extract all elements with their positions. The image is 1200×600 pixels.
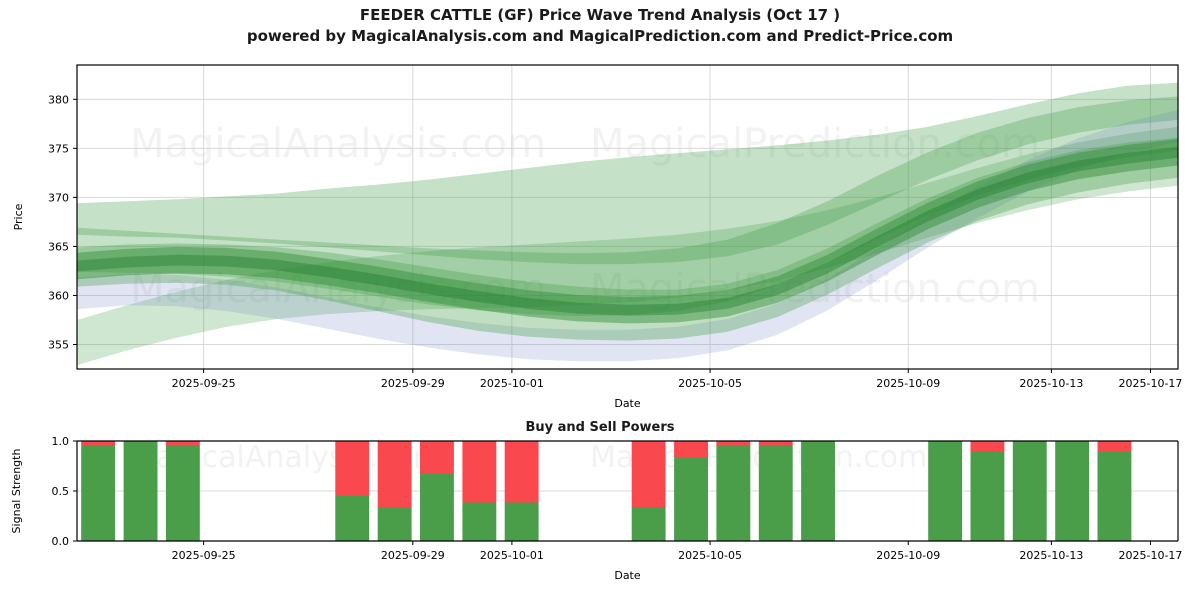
buy-power-segment[interactable] bbox=[632, 508, 666, 542]
buy-power-segment[interactable] bbox=[81, 445, 115, 541]
stacked-bar[interactable] bbox=[759, 441, 793, 541]
x-tick-label: 2025-09-25 bbox=[172, 549, 236, 562]
buy-power-segment[interactable] bbox=[716, 445, 750, 541]
x-axis-label: Date bbox=[614, 569, 641, 582]
buy-power-segment[interactable] bbox=[759, 446, 793, 542]
stacked-bar[interactable] bbox=[378, 441, 412, 541]
y-axis: 0.00.51.0 bbox=[52, 435, 78, 548]
sell-power-segment[interactable] bbox=[759, 441, 793, 446]
x-tick-label: 2025-10-01 bbox=[480, 549, 544, 562]
sell-power-segment[interactable] bbox=[716, 441, 750, 445]
y-tick-label: 0.0 bbox=[52, 535, 70, 548]
x-tick-label: 2025-09-25 bbox=[172, 377, 236, 390]
stacked-bar[interactable] bbox=[971, 441, 1005, 541]
sell-power-segment[interactable] bbox=[420, 441, 454, 474]
stacked-bar[interactable] bbox=[928, 441, 962, 541]
price-wave-chart: MagicalAnalysis.comMagicalPrediction.com… bbox=[0, 52, 1200, 462]
stacked-bar[interactable] bbox=[462, 441, 496, 541]
sell-power-segment[interactable] bbox=[462, 441, 496, 503]
buy-power-segment[interactable] bbox=[166, 445, 200, 541]
x-tick-label: 2025-10-05 bbox=[678, 549, 742, 562]
buy-power-segment[interactable] bbox=[1013, 441, 1047, 541]
buy-power-segment[interactable] bbox=[124, 441, 158, 541]
buy-sell-powers-chart: Buy and Sell PowersMagicalAnalysis.comMa… bbox=[0, 415, 1200, 600]
sell-power-segment[interactable] bbox=[1098, 441, 1132, 452]
buy-power-segment[interactable] bbox=[335, 496, 369, 542]
y-tick-label: 355 bbox=[48, 338, 69, 351]
stacked-bar[interactable] bbox=[1098, 441, 1132, 541]
y-tick-label: 375 bbox=[48, 142, 69, 155]
x-tick-label: 2025-09-29 bbox=[381, 549, 445, 562]
buy-power-segment[interactable] bbox=[928, 441, 962, 541]
buy-power-segment[interactable] bbox=[801, 441, 835, 541]
sell-power-segment[interactable] bbox=[378, 441, 412, 508]
sell-power-segment[interactable] bbox=[166, 441, 200, 445]
stacked-bar[interactable] bbox=[81, 441, 115, 541]
buy-power-segment[interactable] bbox=[378, 508, 412, 542]
stacked-bar[interactable] bbox=[716, 441, 750, 541]
stacked-bar[interactable] bbox=[1055, 441, 1089, 541]
stacked-bar[interactable] bbox=[335, 441, 369, 541]
sell-power-segment[interactable] bbox=[81, 441, 115, 445]
x-tick-label: 2025-10-13 bbox=[1019, 377, 1083, 390]
stacked-bar[interactable] bbox=[801, 441, 835, 541]
sell-power-segment[interactable] bbox=[335, 441, 369, 496]
buy-power-segment[interactable] bbox=[674, 458, 708, 542]
y-tick-label: 365 bbox=[48, 240, 69, 253]
watermark-text: MagicalAnalysis.com bbox=[130, 121, 546, 167]
x-tick-label: 2025-10-13 bbox=[1019, 549, 1083, 562]
x-axis: 2025-09-252025-09-292025-10-012025-10-05… bbox=[172, 369, 1183, 390]
y-tick-label: 1.0 bbox=[52, 435, 70, 448]
y-axis-label: Signal Strength bbox=[10, 449, 23, 534]
x-tick-label: 2025-10-09 bbox=[876, 377, 940, 390]
y-tick-label: 380 bbox=[48, 93, 69, 106]
buy-power-segment[interactable] bbox=[420, 474, 454, 541]
stacked-bar[interactable] bbox=[505, 441, 539, 541]
stacked-bar[interactable] bbox=[420, 441, 454, 541]
stacked-bar[interactable] bbox=[1013, 441, 1047, 541]
chart-page: FEEDER CATTLE (GF) Price Wave Trend Anal… bbox=[0, 0, 1200, 600]
x-tick-label: 2025-10-17 bbox=[1119, 549, 1183, 562]
x-axis: 2025-09-252025-09-292025-10-012025-10-05… bbox=[172, 541, 1183, 562]
sell-power-segment[interactable] bbox=[674, 441, 708, 458]
y-tick-label: 360 bbox=[48, 289, 69, 302]
y-tick-label: 0.5 bbox=[52, 485, 70, 498]
subchart-title: Buy and Sell Powers bbox=[525, 420, 674, 435]
y-axis-label: Price bbox=[12, 203, 25, 230]
stacked-bar[interactable] bbox=[674, 441, 708, 541]
buy-power-segment[interactable] bbox=[462, 503, 496, 542]
page-subtitle: powered by MagicalAnalysis.com and Magic… bbox=[0, 26, 1200, 47]
x-tick-label: 2025-10-09 bbox=[876, 549, 940, 562]
buy-power-segment[interactable] bbox=[971, 451, 1005, 541]
page-title: FEEDER CATTLE (GF) Price Wave Trend Anal… bbox=[0, 5, 1200, 26]
x-tick-label: 2025-10-01 bbox=[480, 377, 544, 390]
sell-power-segment[interactable] bbox=[632, 441, 666, 508]
x-tick-label: 2025-10-05 bbox=[678, 377, 742, 390]
sell-power-segment[interactable] bbox=[971, 441, 1005, 451]
sell-power-segment[interactable] bbox=[505, 441, 539, 503]
stacked-bar[interactable] bbox=[166, 441, 200, 541]
y-tick-label: 370 bbox=[48, 191, 69, 204]
stacked-bar[interactable] bbox=[632, 441, 666, 541]
buy-power-segment[interactable] bbox=[1055, 441, 1089, 541]
buy-power-segment[interactable] bbox=[505, 503, 539, 542]
x-tick-label: 2025-10-17 bbox=[1119, 377, 1183, 390]
x-axis-label: Date bbox=[614, 397, 641, 410]
x-tick-label: 2025-09-29 bbox=[381, 377, 445, 390]
stacked-bar[interactable] bbox=[124, 441, 158, 541]
title-block: FEEDER CATTLE (GF) Price Wave Trend Anal… bbox=[0, 5, 1200, 47]
buy-power-segment[interactable] bbox=[1098, 452, 1132, 541]
y-axis: 355360365370375380 bbox=[48, 93, 77, 351]
